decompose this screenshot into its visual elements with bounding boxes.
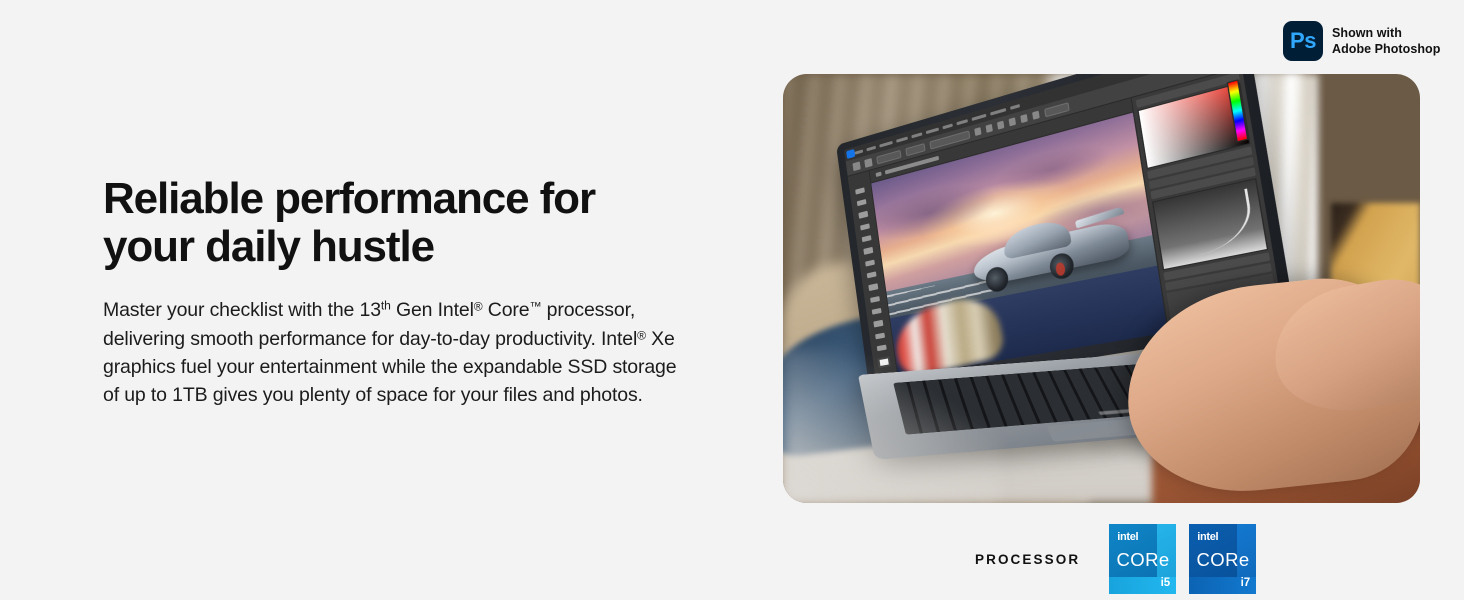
menu-item xyxy=(971,114,986,121)
menu-item xyxy=(956,119,968,125)
brush-tool-icon[interactable] xyxy=(867,272,877,279)
foreground-blur xyxy=(783,349,1000,503)
core-wordmark: CORe xyxy=(1117,551,1170,570)
copy-block: Reliable performance for your daily hust… xyxy=(103,175,703,410)
intel-wordmark: intel xyxy=(1117,532,1138,543)
healing-brush-tool-icon[interactable] xyxy=(865,259,875,267)
intel-core-i7-badge: intel CORe i7 xyxy=(1189,524,1256,594)
eyedropper-tool-icon[interactable] xyxy=(864,247,874,255)
menu-item xyxy=(1010,104,1020,110)
body-sup-th: th xyxy=(381,299,391,313)
processor-strip: PROCESSOR intel CORe i5 intel CORe i7 xyxy=(975,524,1256,594)
body-seg-3: Core xyxy=(483,299,530,321)
processor-tier-label: i7 xyxy=(1241,578,1251,590)
home-icon xyxy=(853,161,861,171)
shown-with-photoshop-badge: Ps Shown with Adobe Photoshop xyxy=(1283,21,1440,61)
lasso-tool-icon[interactable] xyxy=(859,211,869,219)
clone-stamp-tool-icon[interactable] xyxy=(869,284,879,291)
menu-item xyxy=(855,149,864,154)
hero-photo xyxy=(783,74,1420,503)
distribute-icon xyxy=(1021,115,1029,124)
page-title: Reliable performance for your daily hust… xyxy=(103,175,703,270)
marquee-tool-icon[interactable] xyxy=(857,199,867,207)
photoshop-ps-glyph: Ps xyxy=(1290,30,1316,52)
body-tm-1: ™ xyxy=(529,300,541,314)
processor-tier-label: i5 xyxy=(1161,578,1171,590)
align-icon xyxy=(997,121,1004,130)
document-icon xyxy=(875,172,881,177)
distribute-icon xyxy=(1009,118,1016,127)
headline-line-2: your daily hustle xyxy=(103,222,434,271)
photoshop-badge-text: Shown with Adobe Photoshop xyxy=(1332,25,1440,58)
intel-core-i5-badge: intel CORe i5 xyxy=(1109,524,1176,594)
align-icon xyxy=(975,128,982,137)
magic-wand-tool-icon[interactable] xyxy=(860,223,870,231)
headline-line-1: Reliable performance for xyxy=(103,174,595,223)
photoshop-badge-line1: Shown with xyxy=(1332,25,1440,42)
menu-item xyxy=(866,146,876,152)
photo-scene xyxy=(783,74,1420,503)
move-tool-icon[interactable] xyxy=(855,187,865,195)
body-seg-2: Gen Intel xyxy=(391,299,474,321)
eraser-tool-icon[interactable] xyxy=(870,296,880,303)
menu-item xyxy=(896,136,908,142)
crop-tool-icon[interactable] xyxy=(862,235,872,243)
body-paragraph: Master your checklist with the 13th Gen … xyxy=(103,296,683,410)
move-tool-icon xyxy=(865,158,873,168)
menu-item xyxy=(926,127,939,134)
gradient-tool-icon[interactable] xyxy=(872,308,882,315)
intel-wordmark: intel xyxy=(1197,532,1218,543)
body-seg-1: Master your checklist with the 13 xyxy=(103,299,381,321)
align-icon xyxy=(986,124,993,133)
distribute-icon xyxy=(1032,111,1040,120)
layer-dropdown[interactable] xyxy=(906,143,926,156)
menu-item xyxy=(990,108,1006,116)
core-wordmark: CORe xyxy=(1197,551,1250,570)
pen-tool-icon[interactable] xyxy=(874,320,884,327)
type-tool-icon[interactable] xyxy=(875,333,885,340)
processor-label: PROCESSOR xyxy=(975,552,1080,567)
photoshop-badge-line2: Adobe Photoshop xyxy=(1332,41,1440,58)
menu-item xyxy=(911,132,922,138)
body-reg-1: ® xyxy=(474,300,483,314)
promo-banner: Ps Shown with Adobe Photoshop Reliable p… xyxy=(0,0,1464,600)
body-reg-2: ® xyxy=(637,328,646,342)
photoshop-ps-icon: Ps xyxy=(1283,21,1323,61)
menu-item xyxy=(942,123,952,129)
menu-item xyxy=(879,141,892,148)
